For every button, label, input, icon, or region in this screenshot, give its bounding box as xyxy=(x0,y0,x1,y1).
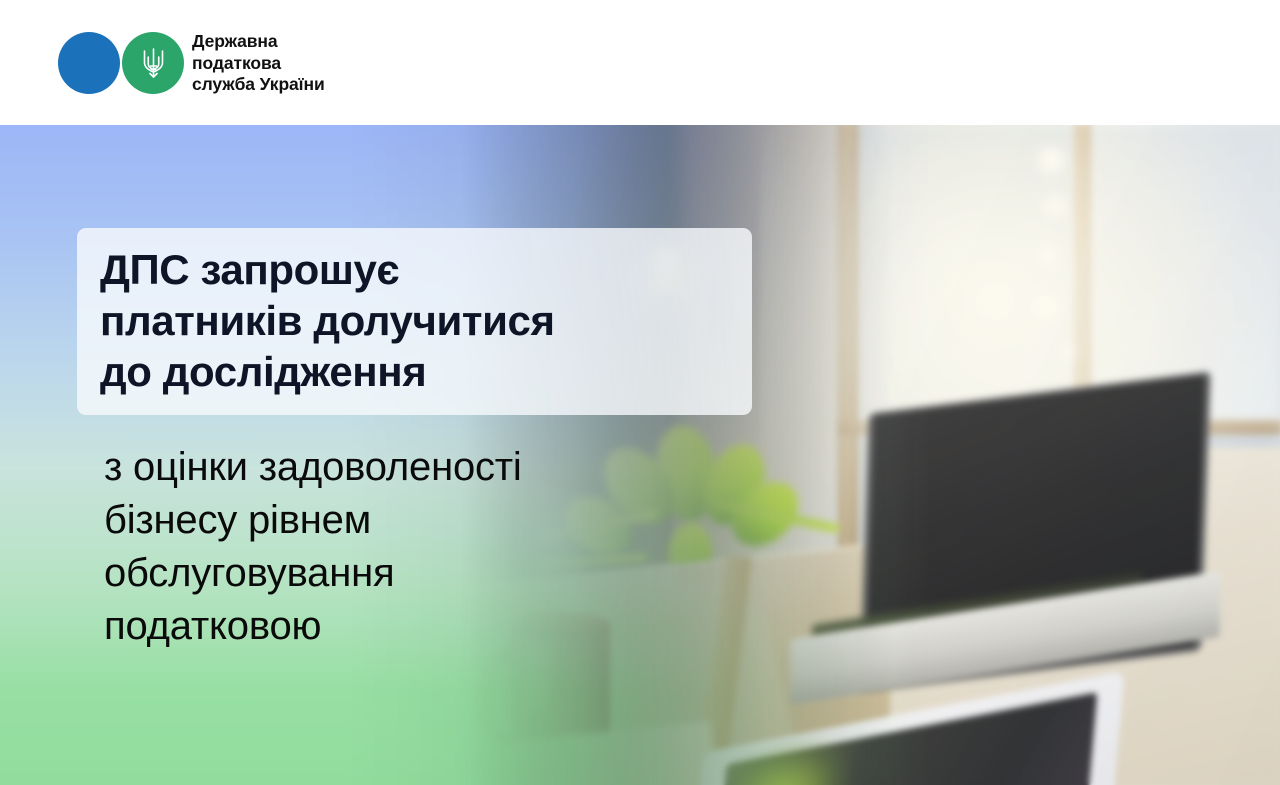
green-circle-icon xyxy=(122,32,184,94)
blue-circle-icon xyxy=(58,32,120,94)
banner-content: ДПС запрошує платників долучитися до дос… xyxy=(0,125,1280,785)
dps-logo[interactable]: Державна податкова служба України xyxy=(58,31,325,96)
ukrainian-trident-icon xyxy=(141,46,166,80)
promo-banner: Державна податкова служба України xyxy=(0,0,1280,785)
banner-headline: ДПС запрошує платників долучитися до дос… xyxy=(100,244,760,397)
logo-organization-name: Державна податкова служба України xyxy=(192,31,325,96)
banner-stage: ДПС запрошує платників долучитися до дос… xyxy=(0,125,1280,785)
site-header: Державна податкова служба України xyxy=(0,0,1280,125)
banner-subheadline: з оцінки задоволеності бізнесу рівнем об… xyxy=(104,441,794,653)
logo-marks xyxy=(58,32,184,94)
